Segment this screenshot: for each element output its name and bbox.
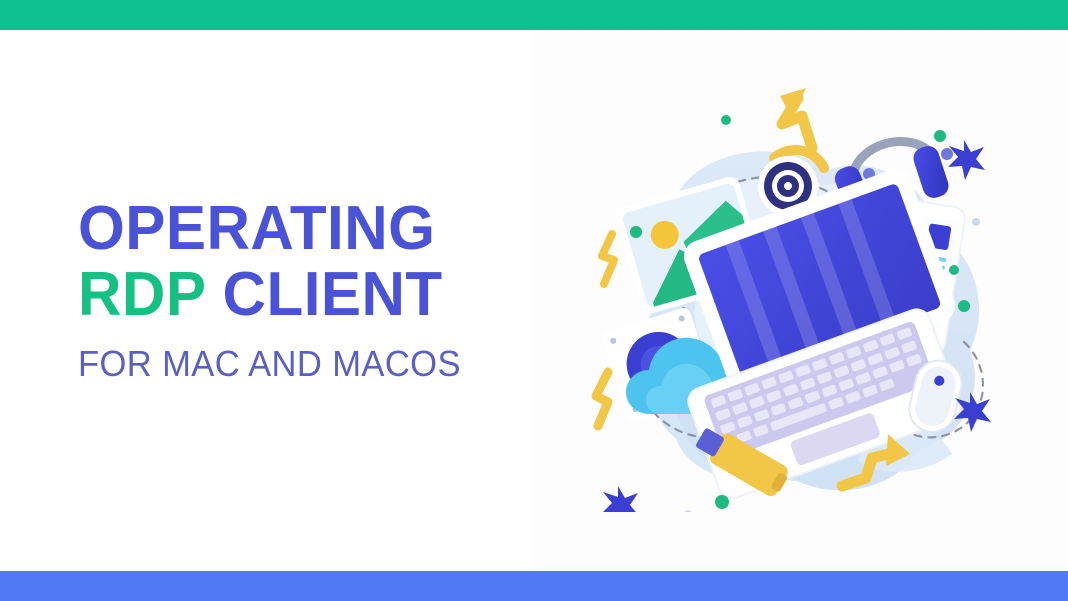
lightning-bolt: [596, 372, 608, 426]
headline-line-2: RDP CLIENT: [78, 262, 495, 328]
headline-subline: FOR MAC AND MACOS: [78, 344, 491, 384]
headline-word-rdp: RDP: [78, 260, 205, 329]
devices-and-cloud-illustration: [566, 62, 996, 512]
headline-space: [205, 260, 222, 329]
headline-word-client: CLIENT: [223, 260, 443, 329]
promo-banner: OPERATING RDP CLIENT FOR MAC AND MACOS: [0, 0, 1068, 601]
zigzag-arrow-up: [780, 88, 812, 148]
bottom-accent-bar: [0, 571, 1068, 601]
headline-block: OPERATING RDP CLIENT FOR MAC AND MACOS: [78, 196, 508, 384]
top-accent-bar: [0, 0, 1068, 30]
headline-line-1: OPERATING: [78, 196, 495, 262]
lightning-bolt-small: [602, 234, 614, 284]
